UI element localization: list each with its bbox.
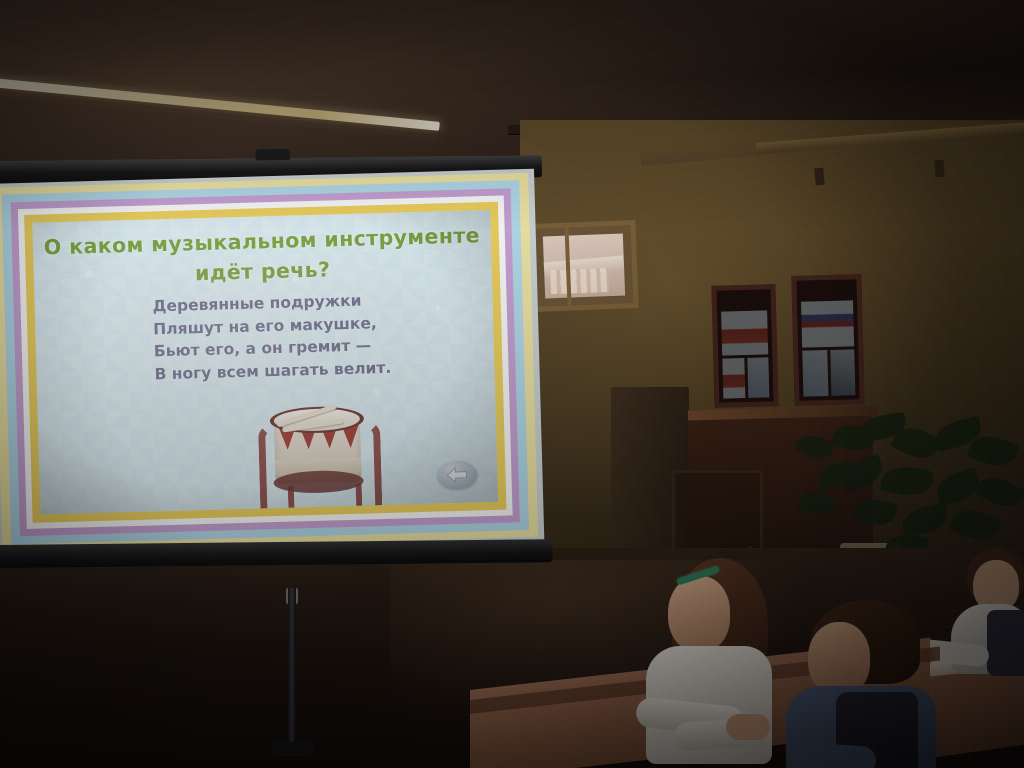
cornice-bracket: [814, 168, 824, 186]
poster: [830, 349, 856, 396]
cornice-bracket: [934, 160, 944, 178]
projection-screen[interactable]: О каком музыкальном инструменте идёт реч…: [0, 162, 557, 577]
head: [808, 622, 870, 696]
answer-word: барабан: [41, 510, 499, 515]
vest: [987, 610, 1024, 676]
slide-border-cyan: О каком музыкальном инструменте идёт реч…: [1, 180, 529, 544]
screen-stand-foot: [272, 742, 314, 756]
head: [668, 576, 730, 652]
slide-border-yellow: О каком музыкальном инструменте идёт реч…: [24, 202, 506, 523]
plant-leaf: [900, 503, 950, 538]
plant-leaf: [794, 430, 836, 465]
slide-poem: Деревянные подружки Пляшут на его макушк…: [152, 289, 391, 386]
bulletin-board-left[interactable]: [711, 284, 778, 408]
drum-image: [233, 397, 387, 515]
slide-title: О каком музыкальном инструменте идёт реч…: [33, 220, 492, 293]
poster: [802, 350, 828, 397]
slide: О каком музыкальном инструменте идёт реч…: [0, 173, 538, 552]
window-glass: [543, 233, 625, 298]
classroom-photo: О каком музыкальном инструменте идёт реч…: [0, 0, 1024, 768]
screen-bottom-bar: [0, 539, 553, 568]
plant-leaf: [880, 463, 934, 499]
slide-content: О каком музыкальном инструменте идёт реч…: [32, 210, 498, 515]
screen-stand-pole: [288, 588, 296, 748]
hand: [726, 714, 770, 740]
slide-border-white: О каком музыкальном инструменте идёт реч…: [18, 196, 513, 529]
poster: [722, 358, 745, 399]
bulletin-board-right[interactable]: [791, 274, 864, 406]
poster: [747, 357, 770, 398]
back-arrow-button[interactable]: [437, 460, 478, 489]
plant-small: [795, 430, 865, 560]
slide-border-purple: О каком музыкальном инструменте идёт реч…: [11, 188, 520, 536]
screen-surface: О каком музыкальном инструменте идёт реч…: [0, 169, 544, 556]
plant-leaf: [974, 470, 1024, 514]
poster: [801, 300, 854, 347]
poster: [721, 310, 768, 355]
plant-leaf: [815, 459, 858, 491]
back-arrow-icon: [446, 467, 468, 484]
plant-leaf: [948, 503, 1001, 546]
student-boy-front: [786, 600, 966, 768]
window-corridor-light: [550, 268, 608, 294]
plant-leaf: [933, 467, 983, 507]
plant-leaf: [797, 488, 837, 517]
